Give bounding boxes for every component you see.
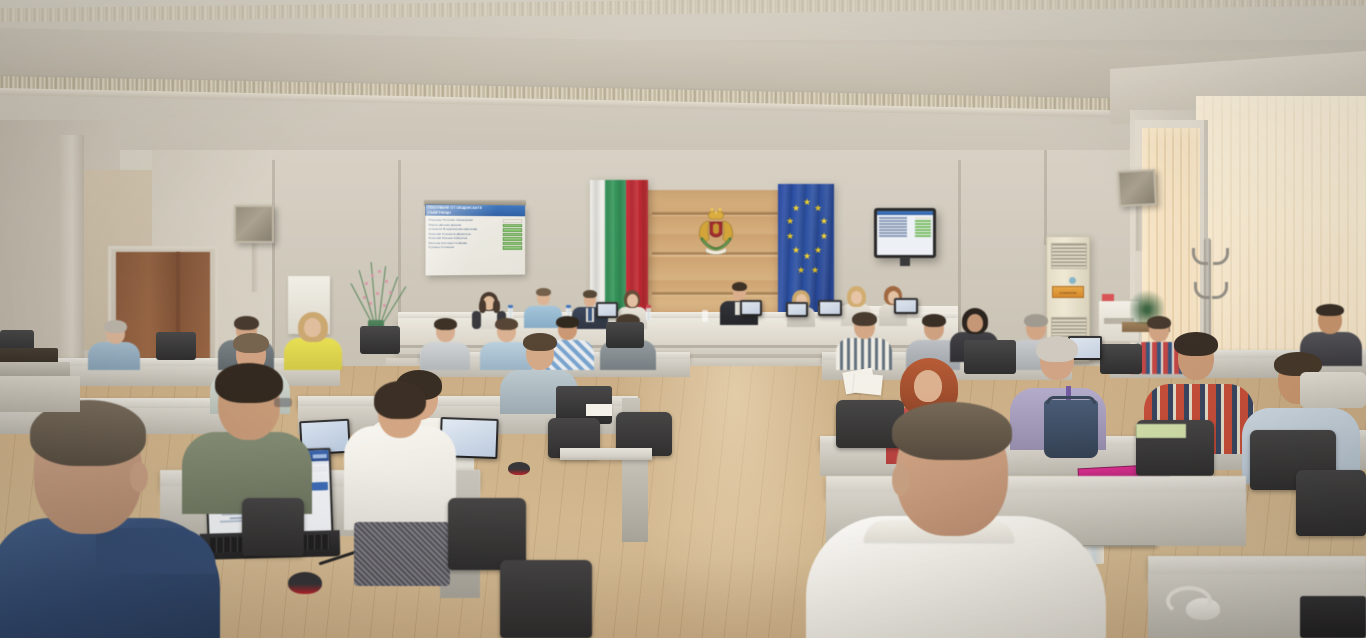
printer-indicator [1102,294,1114,301]
monitor-rear [156,332,196,360]
ac-indicator [1069,277,1076,284]
eyeglasses-icon [274,398,292,407]
mouse-cable [1166,586,1212,616]
handbag-strap [1046,396,1096,404]
ac-brand-label: климатик [1052,286,1084,298]
wall-speaker-left [234,205,274,243]
slide-row: Николай Атанасов Димитров [429,233,523,237]
attendee-right-far-1 [836,314,892,364]
slide-row: Мария Динева Динева [429,223,523,227]
council-chamber-photo: ★ ★ ★ ★ ★ ★ ★ ★ ★ ★ ★ ★ ГЛАСУВАНЕ ОТ ОБЩ… [0,0,1366,638]
panel-laptop[interactable] [894,298,918,314]
shelf [0,362,70,376]
vote-indicator [503,237,523,241]
panel-laptop[interactable] [786,302,808,317]
skirt [354,522,450,586]
projection-screen: ГЛАСУВАНЕ ОТ ОБЩИНСКИТЕ СЪВЕТНИЦИ Надежд… [425,204,525,275]
slide-row: Атанаска Владимирова Цветкова [429,228,523,232]
wall-joint [1044,150,1047,245]
vote-indicator [503,242,523,246]
vote-indicator [503,233,523,237]
wall-speaker-right [1117,169,1157,207]
panel-laptop[interactable] [740,300,762,316]
slide-row: Николай Михнев Кибритев [429,237,523,241]
wall-tv-screen [877,211,933,255]
slide-row: Надежда Петрова Чимширова [429,219,523,223]
monitor-rear [606,322,644,348]
bulgarian-coat-of-arms-icon [688,206,744,258]
attendee-left-far-4 [420,320,470,366]
attendee-left-far-3 [284,314,342,366]
paper-sheet [586,404,612,416]
chair-seat[interactable] [1300,372,1366,408]
computer-mouse[interactable] [288,572,322,594]
chair[interactable] [1296,470,1366,536]
paper-sheet [853,373,883,396]
attendee-foreground-green [182,368,312,508]
computer-mouse[interactable] [508,462,530,475]
ear [892,464,910,496]
ear [130,462,148,492]
wall-tv [874,208,936,258]
slide-row: Румяна Стоянова [429,246,523,250]
tv-wall-mount [900,257,910,266]
ac-grille-top [1051,243,1087,269]
cabinet [0,376,80,412]
attendee-left-far-1 [88,322,140,366]
bottle-cap [508,305,513,308]
attendee-foreground-white-shirt [806,408,1106,638]
paper-sheet [1136,424,1186,438]
bottle-cap [646,305,651,308]
vote-indicator [503,246,523,250]
vote-indicator [503,228,523,232]
water-bottle [702,310,708,322]
slide-title: ГЛАСУВАНЕ ОТ ОБЩИНСКИТЕ СЪВЕТНИЦИ [425,204,525,216]
monitor-rear [360,326,400,354]
slide-vote-list: Надежда Петрова Чимширова Мария Динева Д… [425,216,525,253]
attendee-white-blouse [336,386,464,586]
monitor-rear [1100,344,1142,374]
chair[interactable] [500,560,592,638]
slide-row: Милена Костова Стойкова [429,242,523,246]
vote-indicator [503,224,523,228]
vote-indicator [503,219,523,223]
chair[interactable] [242,498,304,556]
desk-side [622,452,648,542]
bottle-cap [566,305,571,308]
desk-top [560,448,652,460]
closed-laptop[interactable] [1300,596,1366,638]
